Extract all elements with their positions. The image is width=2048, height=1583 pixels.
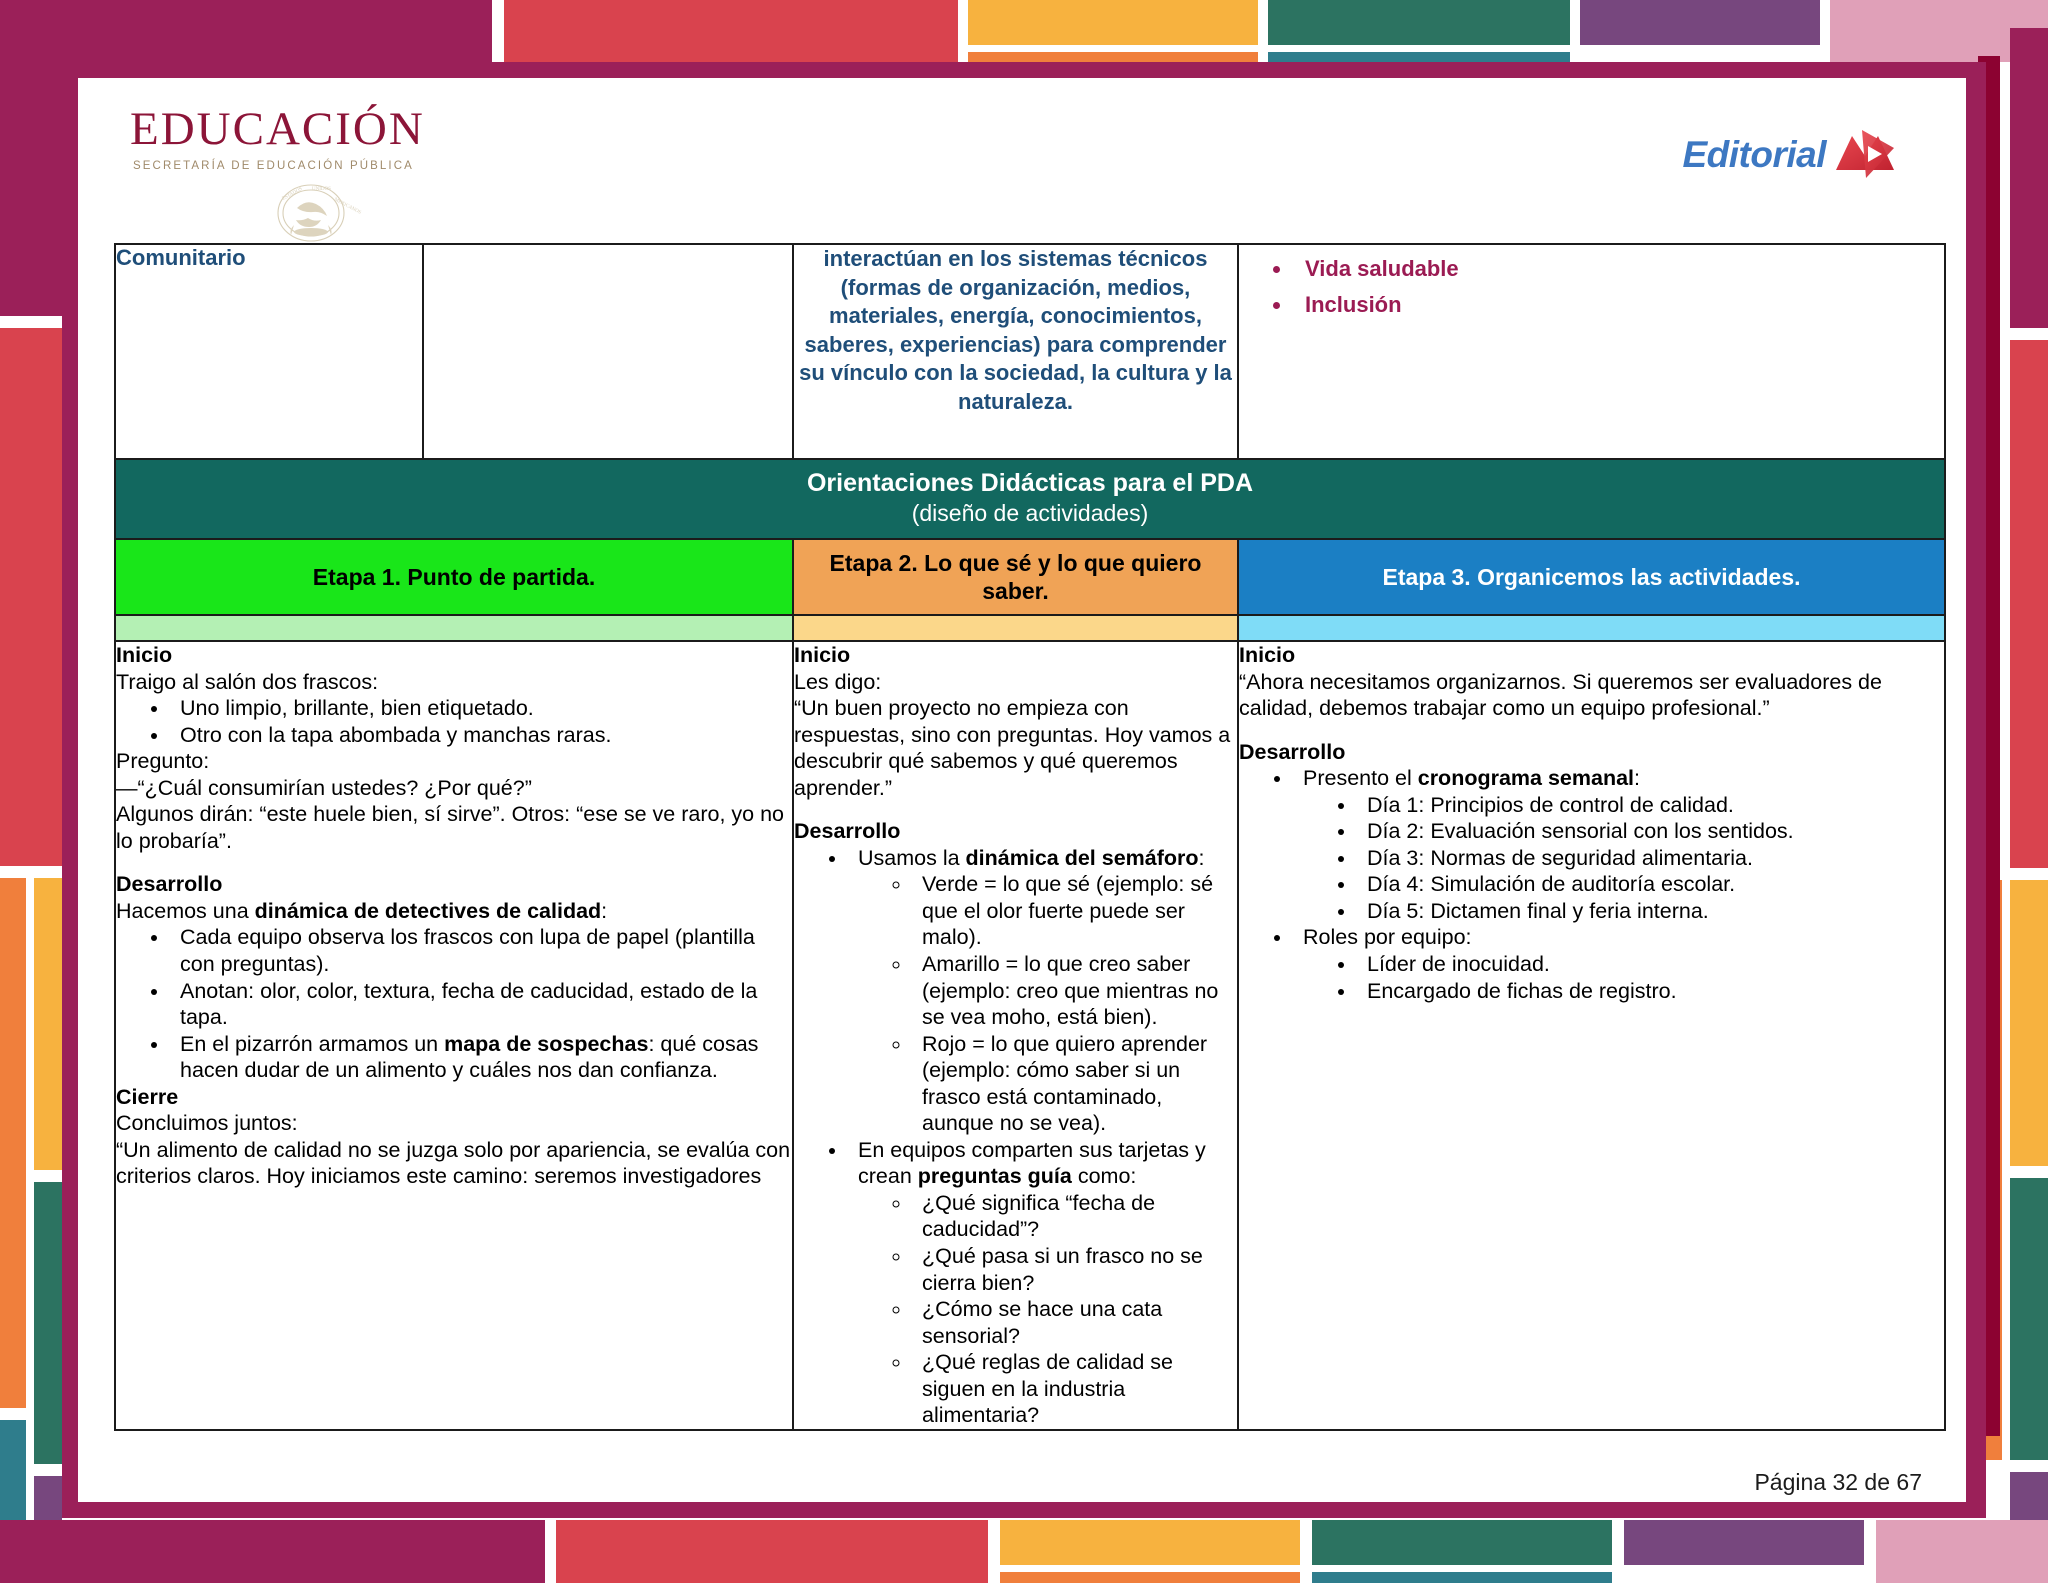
list-item: ¿Qué significa “fecha de caducidad”? — [912, 1190, 1237, 1243]
editorial-md-logo: Editorial — [1682, 126, 1898, 184]
frame-block-orange-bottom — [1000, 1520, 1300, 1565]
frame-block-teal-left — [34, 1182, 62, 1464]
etapa3-dias-list: Día 1: Principios de control de calidad.… — [1329, 792, 1944, 925]
etapa-strip-1 — [115, 615, 793, 641]
frame-block-magenta-right — [2010, 28, 2048, 328]
list-item: Líder de inocuidad. — [1357, 951, 1944, 978]
table-row-orientaciones: Orientaciones Didácticas para el PDA (di… — [115, 459, 1945, 539]
etapa2-preguntas-list: ¿Qué significa “fecha de caducidad”? ¿Qu… — [884, 1190, 1237, 1429]
etapa1-inicio-lead: Traigo al salón dos frascos: — [116, 669, 792, 696]
sep-wordmark: EDUCACIÓN — [130, 106, 425, 153]
etapa3-roles-list: Líder de inocuidad. Encargado de fichas … — [1329, 951, 1944, 1004]
sep-subtitle: SECRETARÍA DE EDUCACIÓN PÚBLICA — [133, 160, 425, 172]
etapa3-desarrollo-heading: Desarrollo — [1239, 739, 1944, 766]
list-item: Otro con la tapa abombada y manchas rara… — [170, 722, 792, 749]
list-item: Anotan: olor, color, textura, fecha de c… — [170, 978, 792, 1031]
frame-block-pink-bottom — [1876, 1520, 2048, 1583]
etapa1-desarrollo-lead: Hacemos una dinámica de detectives de ca… — [116, 898, 792, 925]
list-item: Uno limpio, brillante, bien etiquetado. — [170, 695, 792, 722]
list-item: Amarillo = lo que creo saber (ejemplo: c… — [912, 951, 1237, 1031]
etapa2-inicio-lead: Les digo: — [794, 669, 1237, 696]
orientaciones-subtitle: (diseño de actividades) — [116, 499, 1944, 528]
ejes-list: Vida saludable Inclusión — [1239, 245, 1944, 318]
mexican-coat-of-arms-seal-icon: ESTADOS UNIDOS MEXICANOS — [256, 180, 366, 242]
frame-block-purple-bottom — [1624, 1520, 1864, 1565]
frame-block-red-top — [504, 0, 958, 62]
frame-block-purple-top — [1580, 0, 1820, 45]
list-item: Rojo = lo que quiero aprender (ejemplo: … — [912, 1031, 1237, 1137]
list-item: ¿Cómo se hace una cata sensorial? — [912, 1296, 1237, 1349]
frame-block-orange-top — [968, 0, 1258, 45]
page-number: Página 32 de 67 — [1754, 1469, 1922, 1496]
frame-block-teal-right — [2010, 1178, 2048, 1460]
list-item: Vida saludable — [1293, 255, 1934, 283]
etapa1-inicio-list: Uno limpio, brillante, bien etiquetado. … — [142, 695, 792, 748]
list-item: Día 2: Evaluación sensorial con los sent… — [1357, 818, 1944, 845]
list-item: ¿Qué pasa si un frasco no se cierra bien… — [912, 1243, 1237, 1296]
etapa2-desarrollo-heading: Desarrollo — [794, 818, 1237, 845]
pda-planning-table: Comunitario interactúan en los sistemas … — [114, 243, 1946, 1431]
editorial-wordmark: Editorial — [1682, 134, 1826, 176]
etapa1-body: Inicio Traigo al salón dos frascos: Uno … — [115, 641, 793, 1430]
etapa3-body: Inicio “Ahora necesitamos organizarnos. … — [1238, 641, 1945, 1430]
list-item: En equipos comparten sus tarjetas y crea… — [848, 1137, 1237, 1429]
frame-block-red-bottom — [556, 1520, 988, 1583]
frame-block-teal-top — [1268, 0, 1570, 45]
etapa-header-3: Etapa 3. Organicemos las actividades. — [1238, 539, 1945, 615]
sep-logo: EDUCACIÓN SECRETARÍA DE EDUCACIÓN PÚBLIC… — [130, 106, 425, 172]
etapa2-inicio-quote: “Un buen proyecto no empieza con respues… — [794, 695, 1237, 801]
list-item: Día 5: Dictamen final y feria interna. — [1357, 898, 1944, 925]
etapa2-semaforo-list: Verde = lo que sé (ejemplo: sé que el ol… — [884, 871, 1237, 1136]
list-item: ¿Qué reglas de calidad se siguen en la i… — [912, 1349, 1237, 1429]
list-item: En el pizarrón armamos un mapa de sospec… — [170, 1031, 792, 1084]
list-item: Usamos la dinámica del semáforo: Verde =… — [848, 845, 1237, 1137]
campo-formativo-cell: Comunitario — [115, 244, 423, 459]
etapa-header-2: Etapa 2. Lo que sé y lo que quiero saber… — [793, 539, 1238, 615]
list-item: Verde = lo que sé (ejemplo: sé que el ol… — [912, 871, 1237, 951]
etapa3-inicio-quote: “Ahora necesitamos organizarnos. Si quer… — [1239, 669, 1944, 722]
etapa1-pregunto-label: Pregunto: — [116, 748, 792, 775]
etapa2-inicio-heading: Inicio — [794, 642, 1237, 669]
frame-block-orange-left — [34, 878, 62, 1170]
list-item: Día 4: Simulación de auditoría escolar. — [1357, 871, 1944, 898]
etapa3-inicio-heading: Inicio — [1239, 642, 1944, 669]
list-item: Inclusión — [1293, 291, 1934, 319]
table-row-campo: Comunitario interactúan en los sistemas … — [115, 244, 1945, 459]
frame-block-red-left — [0, 328, 62, 866]
etapa2-body: Inicio Les digo: “Un buen proyecto no em… — [793, 641, 1238, 1430]
frame-block-magenta-left — [0, 0, 62, 316]
orientaciones-title: Orientaciones Didácticas para el PDA — [116, 468, 1944, 499]
etapa1-respuestas-text: Algunos dirán: “este huele bien, sí sirv… — [116, 801, 792, 854]
etapa1-desarrollo-list: Cada equipo observa los frascos con lupa… — [142, 924, 792, 1083]
etapa3-desarrollo-list: Presento el cronograma semanal: Día 1: P… — [1265, 765, 1944, 1004]
etapa1-desarrollo-heading: Desarrollo — [116, 871, 792, 898]
table-row-etapa-headers: Etapa 1. Punto de partida. Etapa 2. Lo q… — [115, 539, 1945, 615]
ejes-articuladores-cell: Vida saludable Inclusión — [1238, 244, 1945, 459]
frame-block-teal-bottom — [1312, 1520, 1612, 1565]
svg-text:UNIDOS: UNIDOS — [312, 187, 331, 192]
frame-block-orange-right — [2010, 880, 2048, 1166]
frame-block-orange2-left — [0, 878, 26, 1408]
etapa1-pregunto-text: —“¿Cuál consumirían ustedes? ¿Por qué?” — [116, 775, 792, 802]
contenido-cell — [423, 244, 793, 459]
document-page: EDUCACIÓN SECRETARÍA DE EDUCACIÓN PÚBLIC… — [62, 62, 1986, 1518]
etapa1-cierre-lead: Concluimos juntos: — [116, 1110, 792, 1137]
list-item: Día 1: Principios de control de calidad. — [1357, 792, 1944, 819]
etapa-strip-3 — [1238, 615, 1945, 641]
list-item: Día 3: Normas de seguridad alimentaria. — [1357, 845, 1944, 872]
etapa-strip-2 — [793, 615, 1238, 641]
orientaciones-header-cell: Orientaciones Didácticas para el PDA (di… — [115, 459, 1945, 539]
frame-block-bluegray-top — [1268, 52, 1570, 62]
frame-block-red-right — [2010, 340, 2048, 868]
frame-block-magenta-bottom — [0, 1520, 545, 1583]
table-row-etapa-bodies: Inicio Traigo al salón dos frascos: Uno … — [115, 641, 1945, 1430]
etapa2-desarrollo-list: Usamos la dinámica del semáforo: Verde =… — [820, 845, 1237, 1429]
document-header: EDUCACIÓN SECRETARÍA DE EDUCACIÓN PÚBLIC… — [104, 88, 1940, 228]
list-item: Presento el cronograma semanal: Día 1: P… — [1293, 765, 1944, 924]
list-item: Encargado de fichas de registro. — [1357, 978, 1944, 1005]
svg-text:MEXICANOS: MEXICANOS — [333, 197, 362, 215]
etapa1-cierre-heading: Cierre — [116, 1084, 792, 1111]
frame-block-orange2-bottom — [1000, 1572, 1300, 1583]
etapa1-cierre-text: “Un alimento de calidad no se juzga solo… — [116, 1137, 792, 1190]
table-row-etapa-strips — [115, 615, 1945, 641]
list-item: Roles por equipo: Líder de inocuidad. En… — [1293, 924, 1944, 1004]
frame-block-magenta-top — [0, 0, 492, 62]
frame-block-bluegray-bottom — [1312, 1572, 1612, 1583]
list-item: Cada equipo observa los frascos con lupa… — [170, 924, 792, 977]
etapa1-inicio-heading: Inicio — [116, 642, 792, 669]
md-play-logo-icon — [1832, 126, 1898, 184]
frame-block-orange2-top — [968, 52, 1258, 62]
etapa-header-1: Etapa 1. Punto de partida. — [115, 539, 793, 615]
pda-cell: interactúan en los sistemas técnicos (fo… — [793, 244, 1238, 459]
